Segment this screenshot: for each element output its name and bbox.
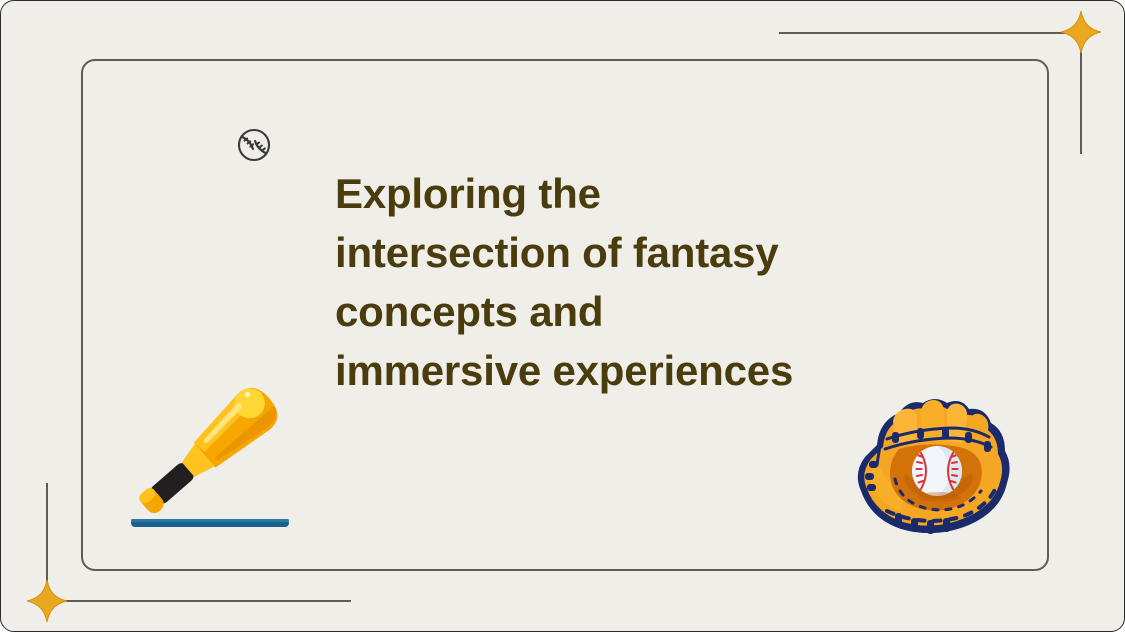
decorative-rule-top-horizontal [779,32,1081,34]
baseball-outline-icon [230,121,278,169]
page-title: Exploring the intersection of fantasy co… [335,164,905,400]
title-block: Exploring the intersection of fantasy co… [335,164,905,400]
sparkle-star-icon-top-right [1060,10,1102,54]
baseball-bat-illustration [119,359,309,539]
decorative-rule-bottom-horizontal [46,600,351,602]
baseball-glove-illustration [843,387,1037,545]
sparkle-star-icon-bottom-left [26,579,68,623]
slide-canvas: Exploring the intersection of fantasy co… [0,0,1125,632]
